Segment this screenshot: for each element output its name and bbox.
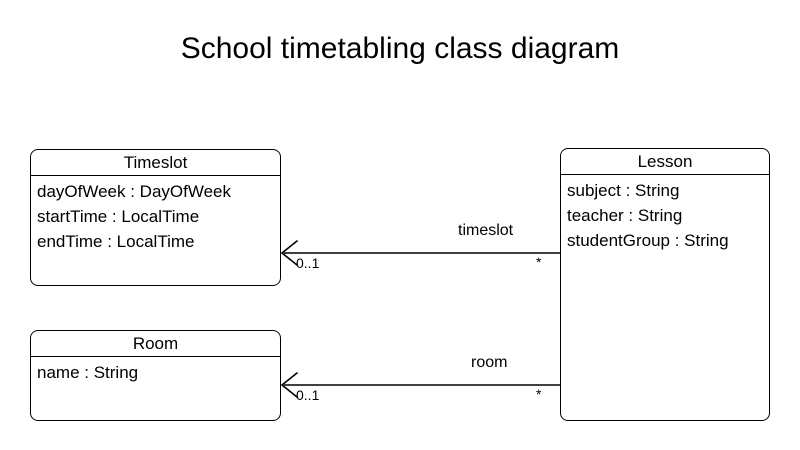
association-source-multiplicity-timeslot: *	[536, 254, 541, 270]
class-attribute: studentGroup : String	[567, 228, 769, 253]
association-label-timeslot: timeslot	[458, 222, 513, 240]
class-box-lesson[interactable]: Lesson subject : String teacher : String…	[560, 148, 770, 421]
class-attribute: dayOfWeek : DayOfWeek	[37, 179, 280, 204]
class-attribute: teacher : String	[567, 203, 769, 228]
diagram-canvas: School timetabling class diagram timeslo…	[0, 0, 800, 450]
class-attributes-room: name : String	[31, 357, 280, 385]
association-label-room: room	[471, 354, 507, 372]
class-box-timeslot[interactable]: Timeslot dayOfWeek : DayOfWeek startTime…	[30, 149, 281, 286]
association-source-multiplicity-room: *	[536, 386, 541, 402]
association-target-multiplicity-timeslot: 0..1	[296, 255, 319, 271]
class-attributes-timeslot: dayOfWeek : DayOfWeek startTime : LocalT…	[31, 176, 280, 254]
class-attribute: startTime : LocalTime	[37, 204, 280, 229]
class-attribute: name : String	[37, 360, 280, 385]
class-attributes-lesson: subject : String teacher : String studen…	[561, 175, 769, 253]
association-room[interactable]	[282, 373, 560, 397]
class-attribute: endTime : LocalTime	[37, 229, 280, 254]
class-attribute: subject : String	[567, 178, 769, 203]
class-box-room[interactable]: Room name : String	[30, 330, 281, 421]
association-timeslot[interactable]	[282, 241, 560, 265]
association-target-multiplicity-room: 0..1	[296, 387, 319, 403]
class-name-room: Room	[31, 331, 280, 357]
class-name-timeslot: Timeslot	[31, 150, 280, 176]
class-name-lesson: Lesson	[561, 149, 769, 175]
